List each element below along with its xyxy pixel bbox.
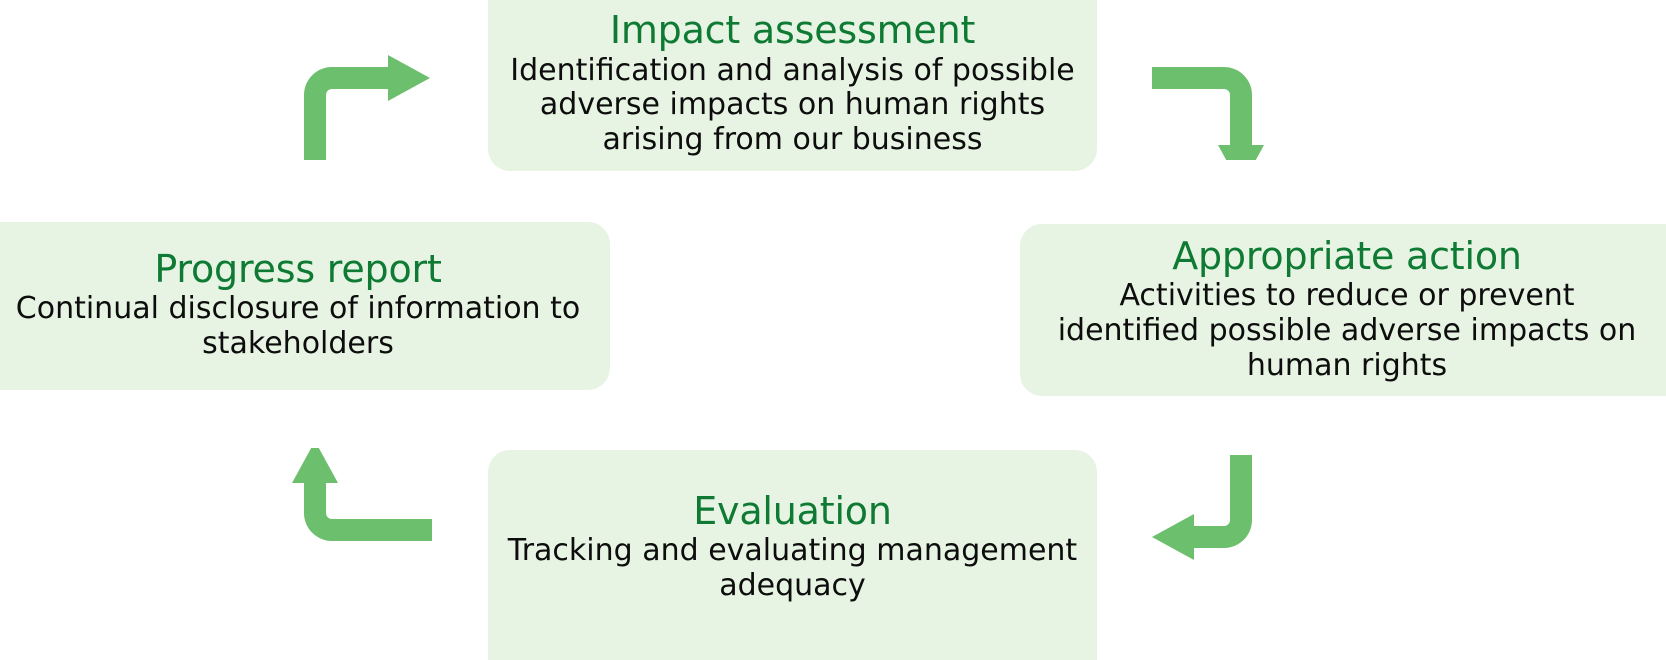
node-description-line: Continual disclosure of information to [0,292,596,327]
node-title: Appropriate action [1034,237,1660,277]
node-description: Identification and analysis of possible … [502,54,1083,158]
node-title: Progress report [0,250,596,290]
node-impact-assessment[interactable]: Impact assessment Identification and ana… [488,0,1097,171]
node-description-line: adequacy [502,569,1083,604]
node-description: Continual disclosure of information to s… [0,292,596,362]
node-description-line: arising from our business [502,123,1083,158]
arrow-down-left-icon [1152,455,1292,560]
node-description-line: stakeholders [0,327,596,362]
node-description: Activities to reduce or prevent identifi… [1034,279,1660,383]
arrow-right-down-icon [1152,55,1292,160]
node-description-line: identified possible adverse impacts on [1034,314,1660,349]
diagram-canvas: Impact assessment Identification and ana… [0,0,1666,660]
node-description-line: Identification and analysis of possible [502,54,1083,89]
node-progress-report[interactable]: Progress report Continual disclosure of … [0,222,610,390]
node-title: Evaluation [502,492,1083,532]
node-description: Tracking and evaluating management adequ… [502,534,1083,604]
node-evaluation[interactable]: Evaluation Tracking and evaluating manag… [488,450,1097,660]
node-description-line: adverse impacts on human rights [502,88,1083,123]
node-description-line: Activities to reduce or prevent [1034,279,1660,314]
node-description-line: Tracking and evaluating management [502,534,1083,569]
node-description-line: human rights [1034,349,1660,384]
node-appropriate-action[interactable]: Appropriate action Activities to reduce … [1020,224,1666,396]
arrow-left-up-icon [292,448,432,553]
node-title: Impact assessment [502,11,1083,51]
arrow-up-right-icon [292,55,432,160]
